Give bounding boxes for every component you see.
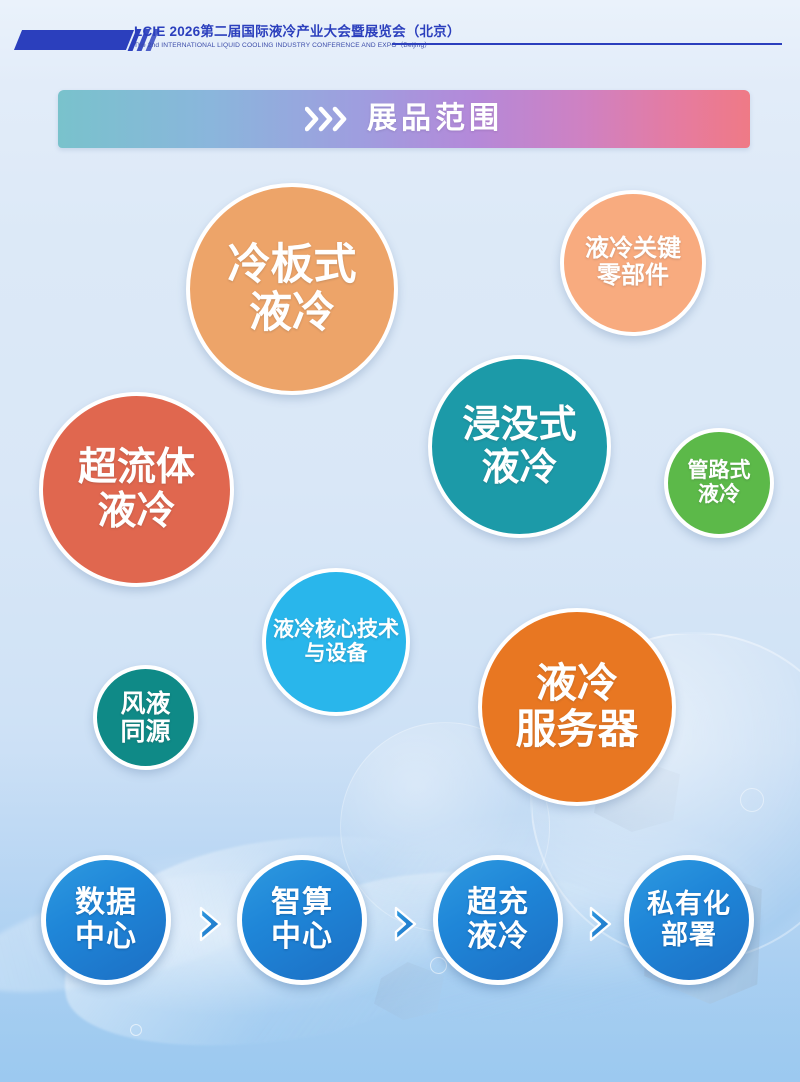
water-bubble-small-2 <box>430 957 447 974</box>
water-bubble-small-3 <box>130 1024 142 1036</box>
flow-bubble-compute-center[interactable]: 智算中心 <box>237 855 367 985</box>
flow-bubble-label: 部署 <box>661 920 717 951</box>
chevron-right-arrow-icon <box>391 905 421 943</box>
page-header: LCIE 2026第二届国际液冷产业大会暨展览会（北京） The 2nd INT… <box>0 0 800 74</box>
topic-bubble-label: 服务器 <box>516 707 639 753</box>
topic-bubble-label: 液冷 <box>536 661 618 707</box>
flow-bubble-label: 数据 <box>75 886 137 920</box>
poster-page: LCIE 2026第二届国际液冷产业大会暨展览会（北京） The 2nd INT… <box>0 0 800 1082</box>
topic-bubble-pipeline[interactable]: 管路式液冷 <box>664 428 774 538</box>
topic-bubble-key-components[interactable]: 液冷关键零部件 <box>560 190 706 336</box>
topic-bubble-superfluid[interactable]: 超流体液冷 <box>39 392 234 587</box>
flow-bubble-label: 中心 <box>271 920 333 954</box>
topic-bubble-label: 与设备 <box>305 642 368 666</box>
topic-bubble-label: 液冷核心技术 <box>273 618 399 642</box>
topic-bubble-label: 零部件 <box>597 263 669 290</box>
flow-bubble-private-deploy[interactable]: 私有化部署 <box>624 855 754 985</box>
topic-bubble-label: 液冷 <box>698 483 740 507</box>
flow-bubble-label: 中心 <box>75 920 137 954</box>
chevron-right-arrow-icon <box>586 905 616 943</box>
chevron-right-arrow-icon <box>196 905 226 943</box>
flow-bubble-label: 私有化 <box>647 889 731 920</box>
event-title: LCIE 2026第二届国际液冷产业大会暨展览会（北京） <box>134 24 461 40</box>
section-banner: 展品范围 <box>58 90 750 148</box>
topic-bubble-liquid-server[interactable]: 液冷服务器 <box>478 608 676 806</box>
topic-bubble-label: 同源 <box>120 718 170 746</box>
topic-bubble-core-tech[interactable]: 液冷核心技术与设备 <box>262 568 410 716</box>
topic-bubble-label: 超流体 <box>78 446 195 490</box>
flow-bubble-supercharge[interactable]: 超充液冷 <box>433 855 563 985</box>
lcie-logo-mark-icon <box>14 30 134 50</box>
topic-bubble-label: 液冷 <box>97 490 175 534</box>
topic-bubble-label: 液冷关键 <box>585 236 681 263</box>
topic-bubble-label: 管路式 <box>688 459 751 483</box>
flow-bubble-data-center[interactable]: 数据中心 <box>41 855 171 985</box>
topic-bubble-air-liquid[interactable]: 风液同源 <box>93 665 198 770</box>
topic-bubble-immersion[interactable]: 浸没式液冷 <box>428 355 611 538</box>
topic-bubble-label: 冷板式 <box>228 241 357 289</box>
section-title: 展品范围 <box>367 104 503 134</box>
server-silhouette-center <box>374 962 444 1020</box>
flow-bubble-label: 液冷 <box>467 920 529 954</box>
flow-bubble-label: 智算 <box>271 886 333 920</box>
header-divider-rule <box>392 43 782 45</box>
topic-bubble-label: 液冷 <box>481 447 557 490</box>
topic-bubble-label: 浸没式 <box>462 404 576 447</box>
flow-bubble-label: 超充 <box>467 886 529 920</box>
triple-chevron-right-icon <box>305 106 351 132</box>
water-bubble-small-4 <box>740 788 764 812</box>
topic-bubble-label: 液冷 <box>249 289 335 337</box>
header-text-block: LCIE 2026第二届国际液冷产业大会暨展览会（北京） The 2nd INT… <box>134 24 461 51</box>
topic-bubble-label: 风液 <box>120 690 170 718</box>
topic-bubble-cold-plate[interactable]: 冷板式液冷 <box>186 183 398 395</box>
